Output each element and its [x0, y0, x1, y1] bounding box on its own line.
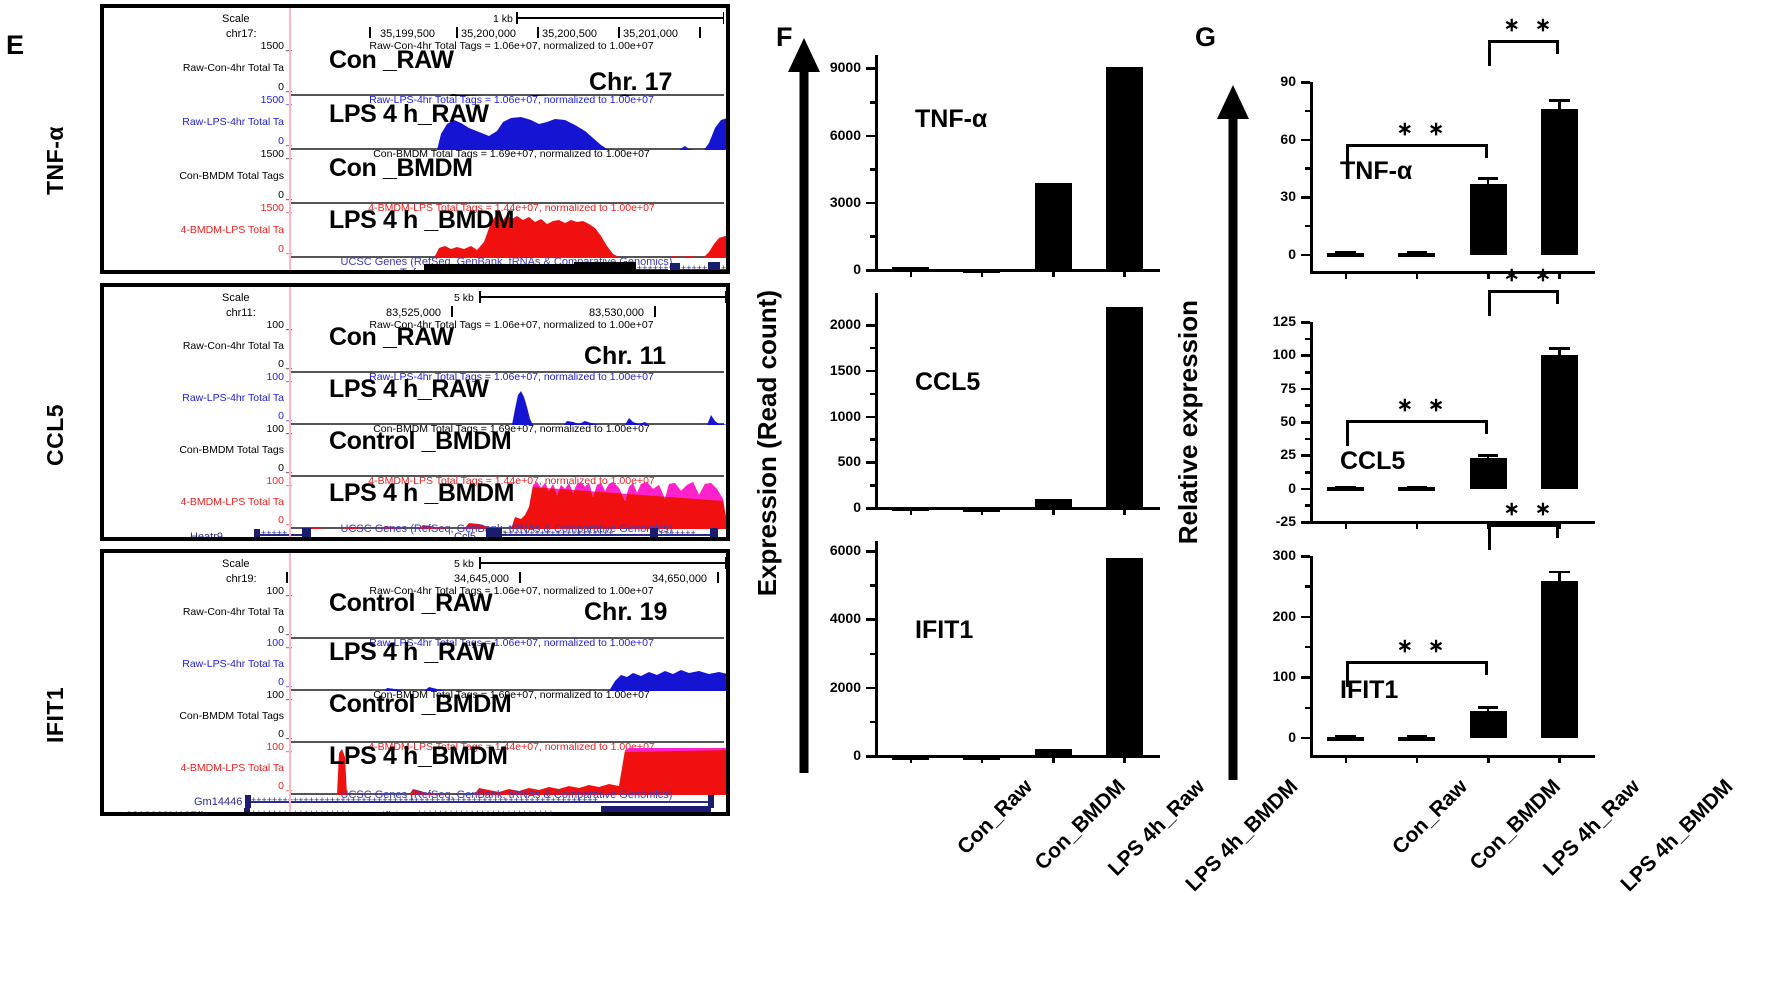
significance-stars: ∗ ∗: [1504, 14, 1556, 37]
y-axis-min: 0: [224, 728, 284, 740]
y-tick: [866, 507, 875, 510]
coord-tick-label: 34,645,000: [454, 573, 509, 585]
y-minor-tick: [1305, 646, 1310, 649]
chart-title: CCL5: [1340, 447, 1405, 476]
sample-label-con-raw: Con _RAW: [329, 46, 454, 75]
scale-bar: [479, 557, 726, 569]
row-label-tnfa: TNF-α: [42, 60, 69, 260]
x-tick: [981, 755, 984, 763]
y-minor-tick: [870, 653, 875, 656]
center-guide-line: [289, 553, 291, 812]
y-tick-label: 1500: [801, 362, 861, 378]
scale-word: Scale: [222, 292, 250, 304]
bar-lps4hraw: [1035, 183, 1072, 270]
x-tick: [1052, 507, 1055, 515]
y-axis-line: [1310, 556, 1313, 756]
y-tick: [1301, 388, 1310, 391]
scale-word: Scale: [222, 13, 250, 25]
bar-lps4hbmdm: [1541, 355, 1578, 488]
error-bar-cap: [1478, 706, 1499, 709]
x-tick: [1558, 755, 1561, 763]
gene-exon: [670, 263, 680, 274]
error-bar-cap: [1549, 347, 1570, 350]
y-tick: [866, 67, 875, 70]
chrom-label: chr11:: [226, 307, 256, 319]
y-minor-tick: [1305, 438, 1310, 441]
y-tick-label: 3000: [801, 194, 861, 210]
panel-letter-g: G: [1195, 22, 1216, 53]
chart-title: CCL5: [915, 368, 980, 397]
scale-size-label: 5 kb: [454, 292, 474, 304]
y-tick-label: 125: [1236, 313, 1296, 329]
y-axis-line: [875, 541, 878, 756]
sample-label-con-raw: Con _RAW: [329, 323, 454, 352]
track-name: 4-BMDM-LPS Total Ta: [104, 496, 284, 508]
y-tick: [1301, 321, 1310, 324]
coord-tick-label: 35,200,500: [542, 28, 597, 40]
error-bar-cap: [1549, 571, 1570, 574]
gene-label-heatr9: Heatr9: [190, 531, 223, 541]
y-tick-label: 4000: [801, 610, 861, 626]
y-tick: [866, 269, 875, 272]
y-axis-max: 100: [224, 689, 284, 701]
y-tick-label: 75: [1236, 380, 1296, 396]
x-tick: [1123, 269, 1126, 277]
y-tick-label: 0: [801, 747, 861, 763]
y-tick-label: 50: [1236, 413, 1296, 429]
y-tick: [1301, 254, 1310, 257]
y-tick: [866, 687, 875, 690]
error-bar-cap: [1335, 735, 1356, 738]
y-tick-label: 0: [801, 261, 861, 277]
y-axis-min: 0: [224, 135, 284, 147]
track-name: Raw-LPS-4hr Total Ta: [104, 116, 284, 128]
y-tick: [1301, 81, 1310, 84]
y-axis-max: 100: [224, 585, 284, 597]
coord-tick-label: 35,201,000: [623, 28, 678, 40]
y-tick: [1301, 488, 1310, 491]
track-name: Raw-LPS-4hr Total Ta: [104, 392, 284, 404]
bar-lps4hbmdm: [1106, 558, 1143, 756]
y-minor-tick: [1305, 371, 1310, 374]
scale-size-label: 1 kb: [493, 13, 513, 25]
coord-tick-label: 83,525,000: [386, 307, 441, 319]
y-tick: [1301, 421, 1310, 424]
y-minor-tick: [870, 484, 875, 487]
y-axis-max: 1500: [224, 94, 284, 106]
bar-chart-ccl5: -250255075100125CCL5∗ ∗∗ ∗: [1310, 322, 1595, 522]
y-tick-label: 100: [1236, 668, 1296, 684]
y-minor-tick: [1305, 504, 1310, 507]
y-axis-min: 0: [224, 81, 284, 93]
y-axis-min: 0: [224, 410, 284, 422]
error-bar-cap: [1407, 251, 1428, 254]
y-axis-min: 0: [224, 462, 284, 474]
chrom-label: chr19:: [226, 573, 257, 585]
y-tick-label: 2000: [801, 679, 861, 695]
y-tick-label: 30: [1236, 188, 1296, 204]
y-axis-line: [1310, 322, 1313, 522]
y-tick-label: 300: [1236, 547, 1296, 563]
track-name: Con-BMDM Total Tags: [104, 170, 284, 182]
x-tick: [910, 755, 913, 763]
significance-bracket: [1488, 524, 1559, 550]
x-tick: [1416, 521, 1419, 529]
bar-lps4hbmdm: [1541, 581, 1578, 737]
sample-label-lps-bmdm: LPS 4 h _BMDM: [329, 479, 514, 508]
y-tick-label: 60: [1236, 131, 1296, 147]
x-tick: [910, 269, 913, 277]
y-tick-label: 2000: [801, 316, 861, 332]
y-tick: [1301, 737, 1310, 740]
gene-label-ifit1: Ifit1: [382, 810, 400, 816]
y-tick: [866, 370, 875, 373]
y-minor-tick: [1305, 110, 1310, 113]
significance-bracket: [1346, 144, 1489, 170]
x-tick: [981, 507, 984, 515]
y-tick-label: 25: [1236, 446, 1296, 462]
sample-label-con-bmdm: Control _BMDM: [329, 427, 511, 456]
chromosome-label: Chr. 11: [584, 342, 666, 371]
y-tick-label: 90: [1236, 73, 1296, 89]
bar-lps4hbmdm: [1106, 67, 1143, 270]
y-tick: [866, 755, 875, 758]
y-axis-min: 0: [224, 624, 284, 636]
x-tick: [1345, 271, 1348, 279]
gene-strand-arrows: +++++++++++++++++++: [251, 809, 351, 816]
panel-f-expression-readcount: F Expression (Read count) 0300060009000T…: [760, 0, 1200, 992]
y-tick: [1301, 454, 1310, 457]
row-label-ifit1: IFIT1: [42, 620, 69, 810]
x-tick: [910, 507, 913, 515]
sample-label-lps-bmdm: LPS 4 h _BMDM: [329, 206, 514, 235]
gene-intron: [250, 814, 384, 816]
significance-bracket: [1488, 40, 1559, 66]
y-tick: [1301, 616, 1310, 619]
gene-label-tnf: Tnf: [400, 267, 416, 274]
y-axis-max: 100: [224, 371, 284, 383]
y-minor-tick: [1305, 338, 1310, 341]
gene-exon: [245, 795, 251, 808]
genome-track-panel-tnfa: Scale 1 kb mm10 chr17: 35,199,500 35,200…: [100, 4, 730, 274]
y-tick: [866, 550, 875, 553]
y-minor-tick: [870, 235, 875, 238]
y-minor-tick: [870, 393, 875, 396]
track-name: Con-BMDM Total Tags: [104, 710, 284, 722]
chrom-label: chr17:: [226, 28, 257, 40]
panel-g-relative-expression: G Relative expression 0306090TNF-α∗ ∗∗ ∗…: [1185, 0, 1772, 992]
error-bar-cap: [1335, 251, 1356, 254]
error-bar-cap: [1335, 486, 1356, 489]
y-axis-min: 0: [224, 514, 284, 526]
x-tick: [1487, 271, 1490, 279]
y-tick: [1301, 521, 1310, 524]
significance-stars: ∗ ∗: [1504, 264, 1556, 287]
scale-word: Scale: [222, 558, 250, 570]
scale-bar: [516, 12, 724, 24]
track-name: Raw-Con-4hr Total Ta: [104, 340, 284, 352]
y-axis-max: 100: [224, 637, 284, 649]
coord-tick-label: 83,530,000: [589, 307, 644, 319]
y-tick-label: 100: [1236, 346, 1296, 362]
y-axis-line: [875, 55, 878, 270]
gene-strand-arrows: ++++++++++++++++++++++++++++++++++++++++…: [251, 796, 598, 805]
error-bar-cap: [1478, 177, 1499, 180]
y-minor-tick: [870, 347, 875, 350]
gene-strand-arrows: +++++++++++++++++++++: [503, 529, 613, 538]
y-axis-min: 0: [224, 243, 284, 255]
scale-size-label: 5 kb: [454, 558, 474, 570]
y-tick: [866, 618, 875, 621]
genome-track-panel-ifit1: Scale 5 kb mm10 chr19: 34,645,000 34,650…: [100, 549, 730, 816]
y-tick-label: 0: [1236, 246, 1296, 262]
gene-strand-arrows: +++++: [261, 529, 287, 538]
bar-chart-ccl5: 0500100015002000CCL5: [875, 293, 1160, 508]
error-bar-cap: [1407, 735, 1428, 738]
y-minor-tick: [870, 438, 875, 441]
x-tick: [1345, 755, 1348, 763]
significance-stars: ∗ ∗: [1397, 635, 1449, 658]
y-axis-min: 0: [224, 189, 284, 201]
y-tick: [866, 324, 875, 327]
x-tick: [1123, 507, 1126, 515]
error-bar-cap: [1478, 454, 1499, 457]
bar-conbmdm: [1398, 253, 1435, 257]
panel-e-genome-browser: E TNF-α CCL5 IFIT1 Scale 1 kb mm10 chr17…: [0, 0, 760, 992]
bar-chart-ifit1: 0200040006000IFIT1: [875, 541, 1160, 756]
y-tick: [1301, 139, 1310, 142]
error-bar-cap: [1407, 486, 1428, 489]
y-tick: [1301, 555, 1310, 558]
y-axis-min: 0: [224, 358, 284, 370]
center-guide-line: [289, 8, 291, 270]
sample-label-lps-bmdm: LPS 4 h_BMDM: [329, 742, 508, 771]
scale-bar: [479, 291, 726, 303]
gene-exon: [708, 262, 720, 274]
track-name: 4-BMDM-LPS Total Ta: [104, 762, 284, 774]
bar-chart-tnf: 0300060009000TNF-α: [875, 55, 1160, 270]
bar-lps4hraw: [1470, 711, 1507, 738]
gene-intron: [416, 814, 601, 816]
gene-exon: [244, 808, 250, 816]
y-axis-max: 1500: [224, 148, 284, 160]
significance-stars: ∗ ∗: [1397, 394, 1449, 417]
y-tick-label: 200: [1236, 608, 1296, 624]
y-tick: [866, 202, 875, 205]
gene-exon: [601, 806, 711, 816]
sample-label-con-raw: Control _RAW: [329, 589, 492, 618]
gene-exon: [650, 528, 658, 541]
gene-exon: [424, 264, 574, 274]
significance-bracket: [1346, 661, 1489, 687]
x-tick: [1052, 269, 1055, 277]
gene-label-ccl5: Ccl5: [454, 531, 476, 541]
gene-strand-arrows: +++++++: [659, 529, 696, 538]
y-tick: [866, 416, 875, 419]
y-axis-max: 100: [224, 741, 284, 753]
y-axis-line: [1310, 82, 1313, 272]
bar-chart-ifit1: 0100200300IFIT1∗ ∗∗ ∗: [1310, 556, 1595, 756]
chromosome-label: Chr. 17: [589, 68, 672, 97]
gene-strand-arrows: ++++++++++++++++++++++++++: [417, 809, 554, 816]
y-minor-tick: [870, 168, 875, 171]
significance-bracket: [1488, 290, 1559, 316]
y-tick-label: 9000: [801, 59, 861, 75]
y-axis-max: 100: [224, 423, 284, 435]
y-minor-tick: [1305, 471, 1310, 474]
y-minor-tick: [1305, 585, 1310, 588]
y-tick: [866, 461, 875, 464]
y-tick-label: 6000: [801, 542, 861, 558]
y-tick-label: 1000: [801, 408, 861, 424]
bar-lps4hraw: [1470, 184, 1507, 255]
sample-label-con-bmdm: Control _BMDM: [329, 690, 511, 719]
y-tick: [1301, 354, 1310, 357]
x-tick: [1487, 755, 1490, 763]
y-tick-label: 6000: [801, 127, 861, 143]
x-axis-category-label: Con_Raw: [953, 775, 1038, 860]
x-tick: [1416, 271, 1419, 279]
gene-strand-arrows: ++++++++++++++: [721, 264, 730, 273]
x-tick: [1123, 755, 1126, 763]
y-tick: [1301, 676, 1310, 679]
gene-exon: [710, 528, 718, 541]
y-tick-label: 500: [801, 453, 861, 469]
y-tick-label: 0: [1236, 480, 1296, 496]
bar-lps4hraw: [1470, 458, 1507, 489]
chart-title: TNF-α: [915, 105, 987, 134]
track-name: Raw-Con-4hr Total Ta: [104, 62, 284, 74]
bar-lps4hbmdm: [1106, 307, 1143, 508]
y-tick-label: -25: [1236, 513, 1296, 529]
track-name: Con-BMDM Total Tags: [104, 444, 284, 456]
significance-stars: ∗ ∗: [1397, 118, 1449, 141]
x-axis-line: [1310, 755, 1595, 758]
chromosome-label: Chr. 19: [584, 598, 667, 627]
significance-bracket: [1346, 420, 1489, 446]
y-minor-tick: [1305, 225, 1310, 228]
y-axis-line: [875, 293, 878, 508]
significance-stars: ∗ ∗: [1504, 498, 1556, 521]
y-tick: [1301, 196, 1310, 199]
x-tick: [1558, 271, 1561, 279]
gene-label-2010002m12rik: 2010002M12Rik: [126, 810, 206, 816]
gene-label-gm14446: Gm14446: [194, 796, 242, 808]
x-axis-category-label: Con_Raw: [1388, 775, 1473, 860]
y-tick: [866, 135, 875, 138]
y-tick-label: 0: [1236, 729, 1296, 745]
track-name: Raw-Con-4hr Total Ta: [104, 606, 284, 618]
y-tick-label: 0: [801, 499, 861, 515]
bar-conraw: [1327, 253, 1364, 257]
sample-label-lps-raw: LPS 4 h_RAW: [329, 375, 489, 404]
x-tick: [1052, 755, 1055, 763]
track-name: 4-BMDM-LPS Total Ta: [104, 224, 284, 236]
sample-label-lps-raw: LPS 4 h_RAW: [329, 100, 489, 129]
track-name: Raw-LPS-4hr Total Ta: [104, 658, 284, 670]
sample-label-con-bmdm: Con _BMDM: [329, 154, 473, 183]
y-minor-tick: [1305, 707, 1310, 710]
center-guide-line: [289, 287, 291, 537]
chart-title: IFIT1: [915, 616, 973, 645]
y-minor-tick: [1305, 404, 1310, 407]
y-minor-tick: [870, 721, 875, 724]
y-minor-tick: [870, 584, 875, 587]
gene-exon: [574, 262, 636, 274]
genome-track-panel-ccl5: Scale 5 kb mm10 chr11: 83,525,000 83,530…: [100, 283, 730, 541]
gene-strand-arrows: +++++: [681, 264, 707, 273]
gene-strand-arrows: ++++++: [637, 264, 669, 273]
error-bar-cap: [1549, 99, 1570, 102]
y-axis-min: 0: [224, 780, 284, 792]
y-minor-tick: [870, 101, 875, 104]
y-axis-min: 0: [224, 676, 284, 688]
row-label-ccl5: CCL5: [42, 340, 69, 530]
bar-lps4hbmdm: [1541, 109, 1578, 255]
y-axis-max: 1500: [224, 40, 284, 52]
panel-letter-e: E: [6, 30, 24, 61]
y-axis-max: 100: [224, 475, 284, 487]
y-axis-max: 1500: [224, 202, 284, 214]
x-tick: [1345, 521, 1348, 529]
gene-exon: [302, 528, 311, 541]
x-tick: [981, 269, 984, 277]
y-minor-tick: [1305, 167, 1310, 170]
y-axis-max: 100: [224, 319, 284, 331]
coord-tick-label: 35,199,500: [380, 28, 435, 40]
sample-label-lps-raw: LPS 4 h _RAW: [329, 638, 495, 667]
gene-exon: [486, 528, 502, 541]
coord-tick-label: 34,650,000: [652, 573, 707, 585]
bar-chart-tnf: 0306090TNF-α∗ ∗∗ ∗: [1310, 82, 1595, 272]
coord-tick-label: 35,200,000: [461, 28, 516, 40]
x-tick: [1416, 755, 1419, 763]
